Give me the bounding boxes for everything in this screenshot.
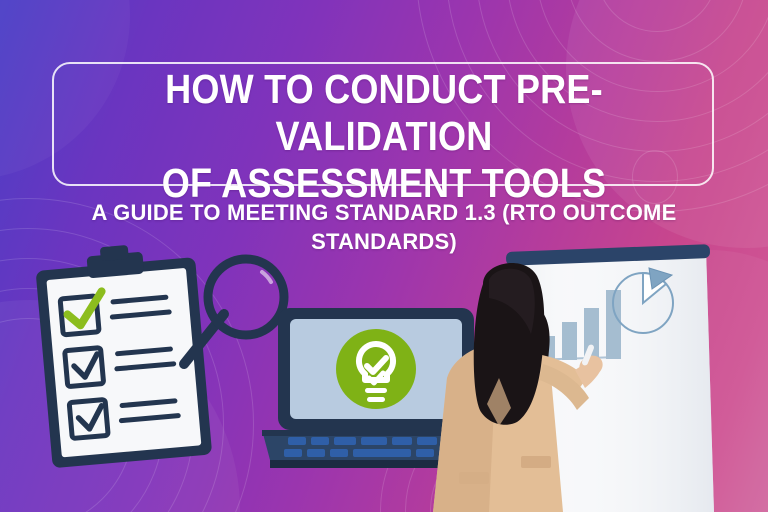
presenter-woman (425, 258, 600, 512)
bg-ring-1 (596, 0, 718, 32)
banner-canvas: HOW TO CONDUCT PRE-VALIDATION OF ASSESSM… (0, 0, 768, 512)
bg-ring-2 (566, 0, 748, 62)
page-title: HOW TO CONDUCT PRE-VALIDATION OF ASSESSM… (87, 66, 682, 207)
lightbulb-check-badge (336, 329, 416, 409)
